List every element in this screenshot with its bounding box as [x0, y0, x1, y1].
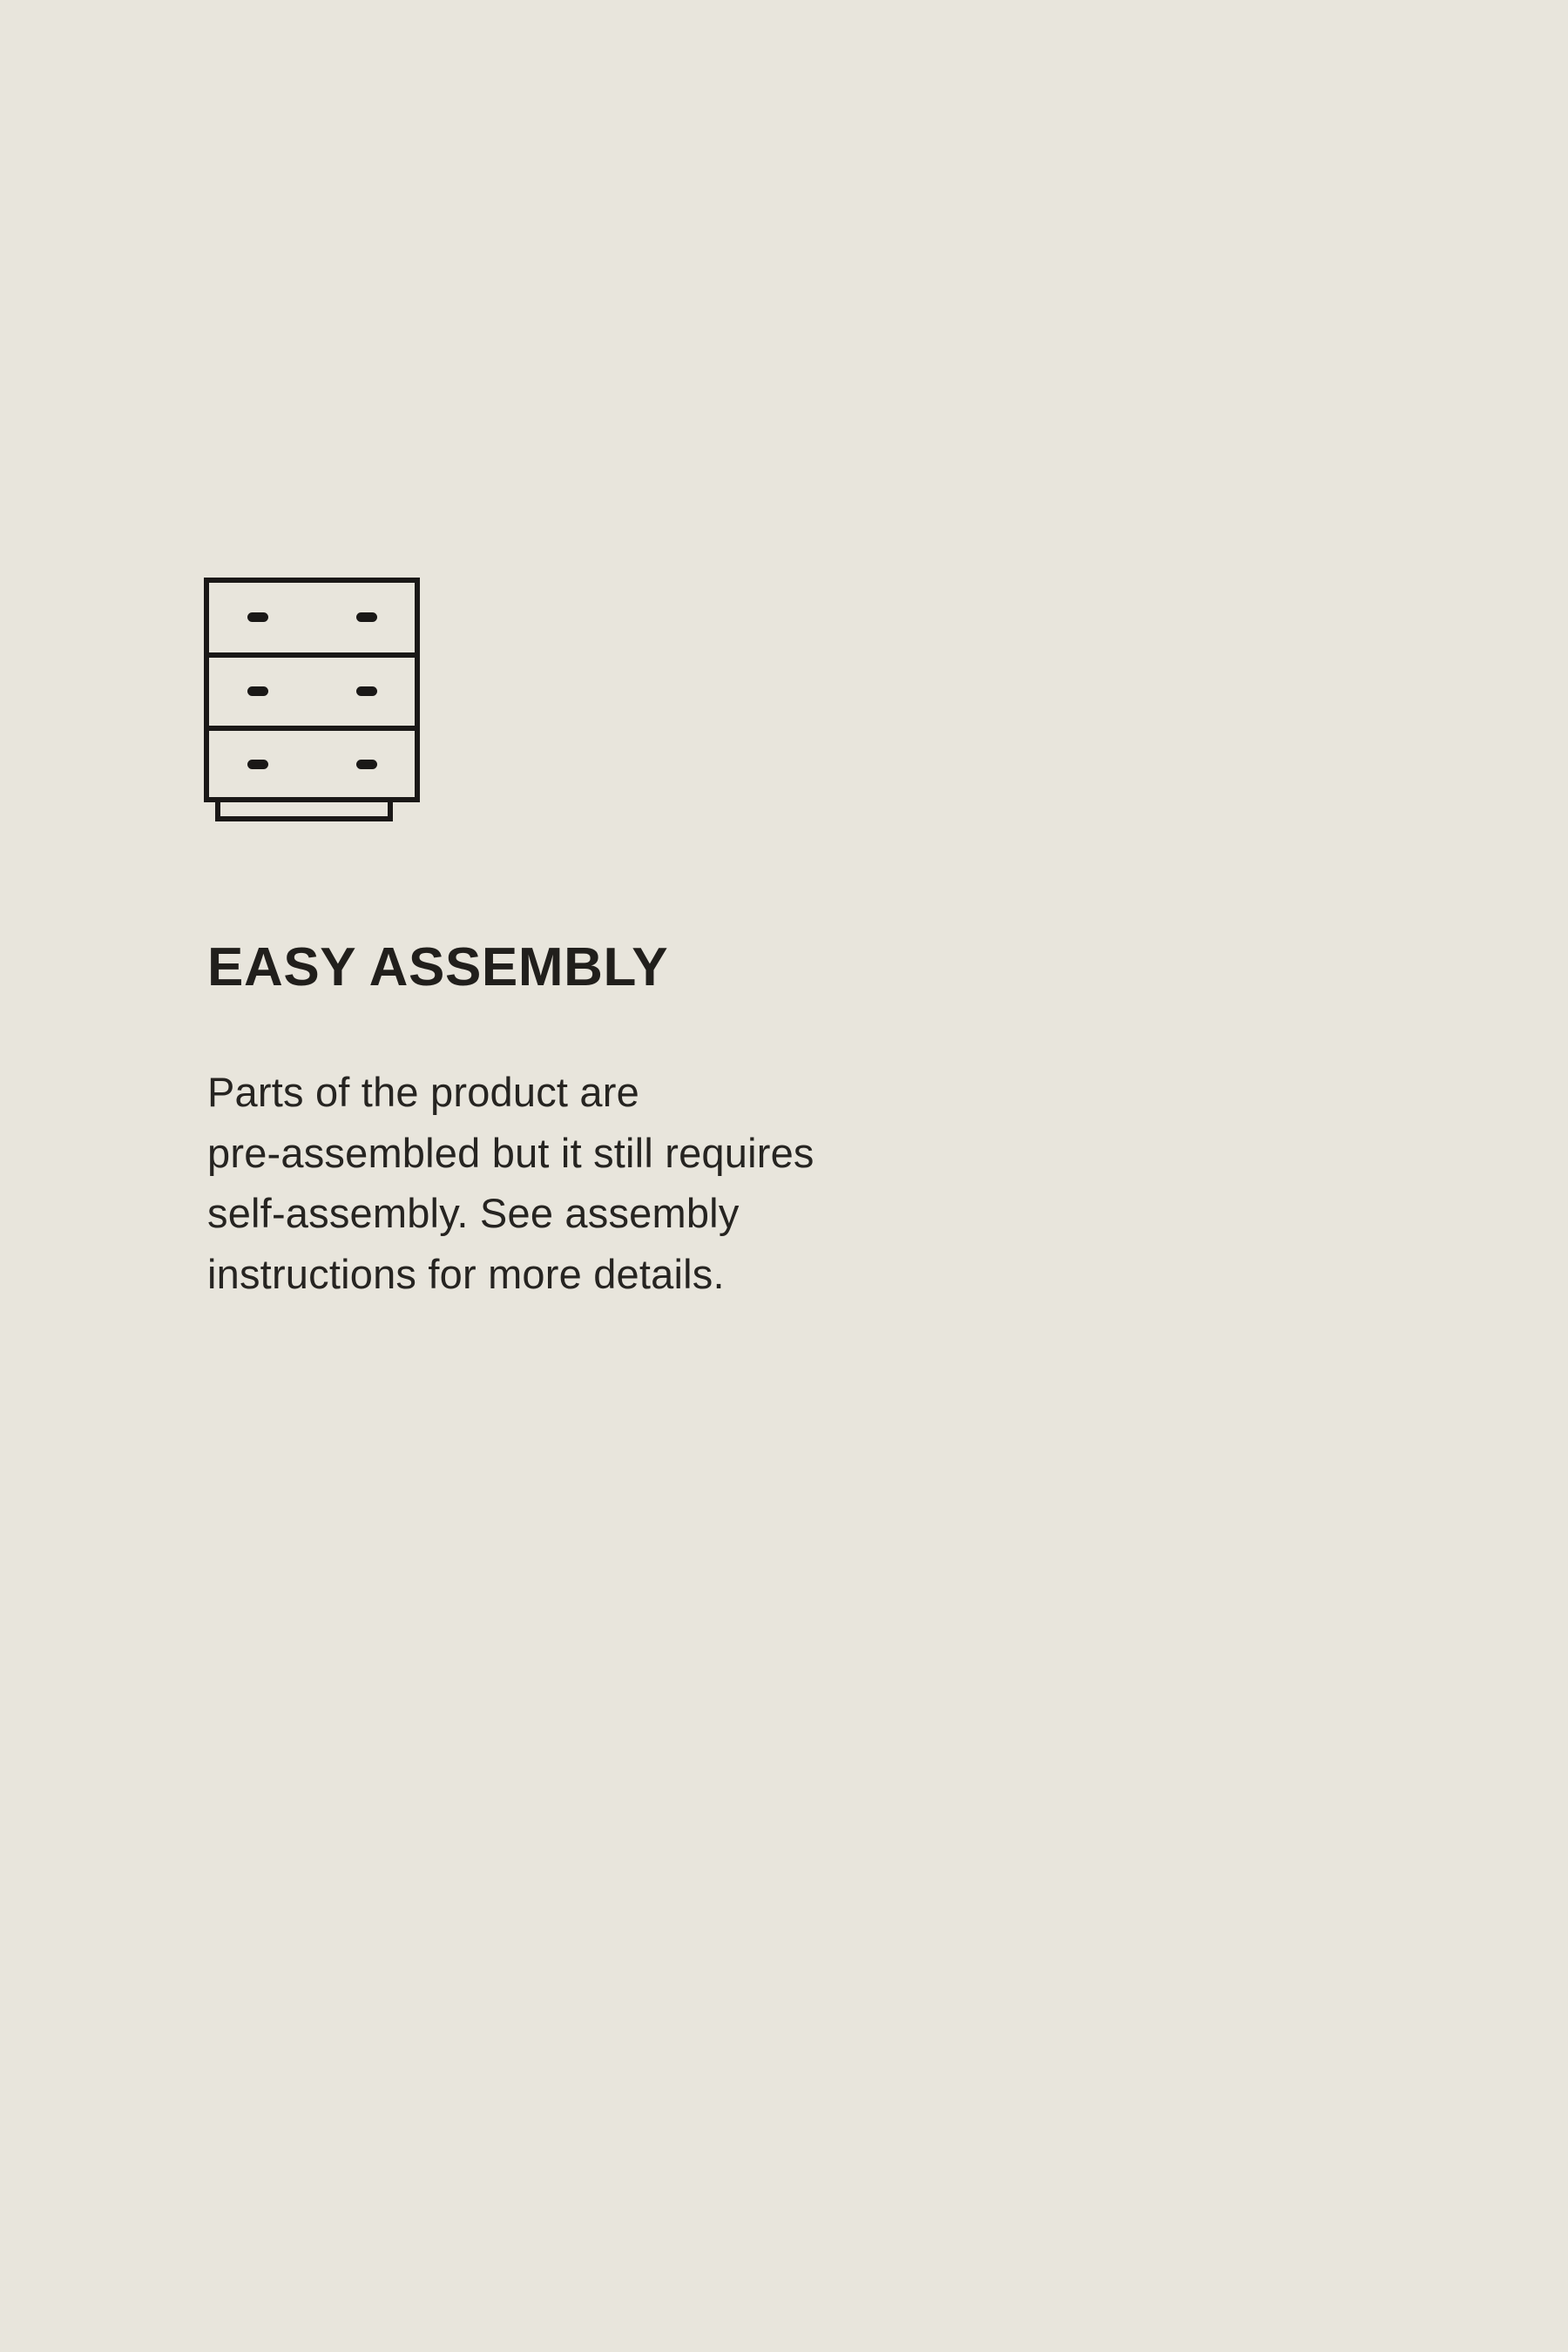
page-title: EASY ASSEMBLY [207, 939, 1444, 996]
description-line: Parts of the product are [207, 1062, 1392, 1123]
feature-card: EASY ASSEMBLY Parts of the product are p… [0, 0, 1568, 2352]
feature-description: Parts of the product are pre-assembled b… [207, 1062, 1392, 1304]
description-line: instructions for more details. [207, 1244, 1392, 1305]
drawer-handles [247, 612, 377, 769]
feature-text-block: EASY ASSEMBLY Parts of the product are p… [207, 939, 1444, 1304]
description-line: pre-assembled but it still requires [207, 1123, 1392, 1184]
description-line: self-assembly. See assembly [207, 1183, 1392, 1244]
dresser-icon-svg [202, 575, 422, 823]
dresser-three-drawers-icon [202, 575, 422, 823]
